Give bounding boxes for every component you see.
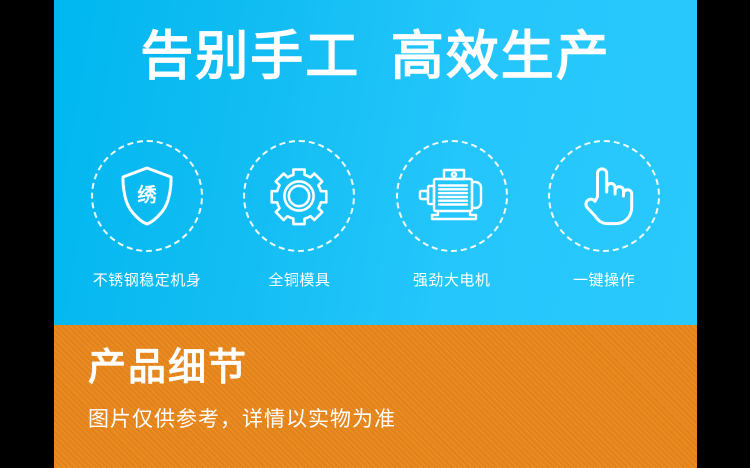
blue-feature-panel: 告别手工 高效生产 绣 不锈钢稳定机身 — [54, 0, 697, 325]
headline: 告别手工 高效生产 — [54, 26, 697, 88]
feature-item-one-key-operation[interactable]: 一键操作 — [533, 140, 675, 290]
shield-icon: 绣 — [115, 164, 179, 228]
section-title: 产品细节 — [88, 346, 248, 390]
shield-icon-glyph: 绣 — [115, 164, 179, 228]
orange-detail-panel: 产品细节 图片仅供参考，详情以实物为准 — [54, 325, 697, 468]
feature-item-stainless-body[interactable]: 绣 不锈钢稳定机身 — [76, 140, 218, 290]
feature-label: 强劲大电机 — [413, 269, 491, 290]
content-column: 告别手工 高效生产 绣 不锈钢稳定机身 — [54, 0, 697, 468]
feature-label: 全铜模具 — [268, 269, 330, 290]
banner-canvas: 告别手工 高效生产 绣 不锈钢稳定机身 — [0, 0, 750, 468]
feature-circle — [243, 140, 355, 252]
feature-list: 绣 不锈钢稳定机身 — [54, 140, 697, 290]
feature-label: 不锈钢稳定机身 — [93, 269, 202, 290]
feature-circle: 绣 — [91, 140, 203, 252]
feature-circle — [548, 140, 660, 252]
gear-icon — [267, 164, 331, 228]
motor-icon — [420, 164, 484, 228]
feature-item-copper-mold[interactable]: 全铜模具 — [228, 140, 370, 290]
pointing-hand-icon — [572, 164, 636, 228]
feature-circle — [396, 140, 508, 252]
feature-item-powerful-motor[interactable]: 强劲大电机 — [381, 140, 523, 290]
section-subtitle: 图片仅供参考，详情以实物为准 — [88, 406, 396, 434]
feature-label: 一键操作 — [573, 269, 635, 290]
